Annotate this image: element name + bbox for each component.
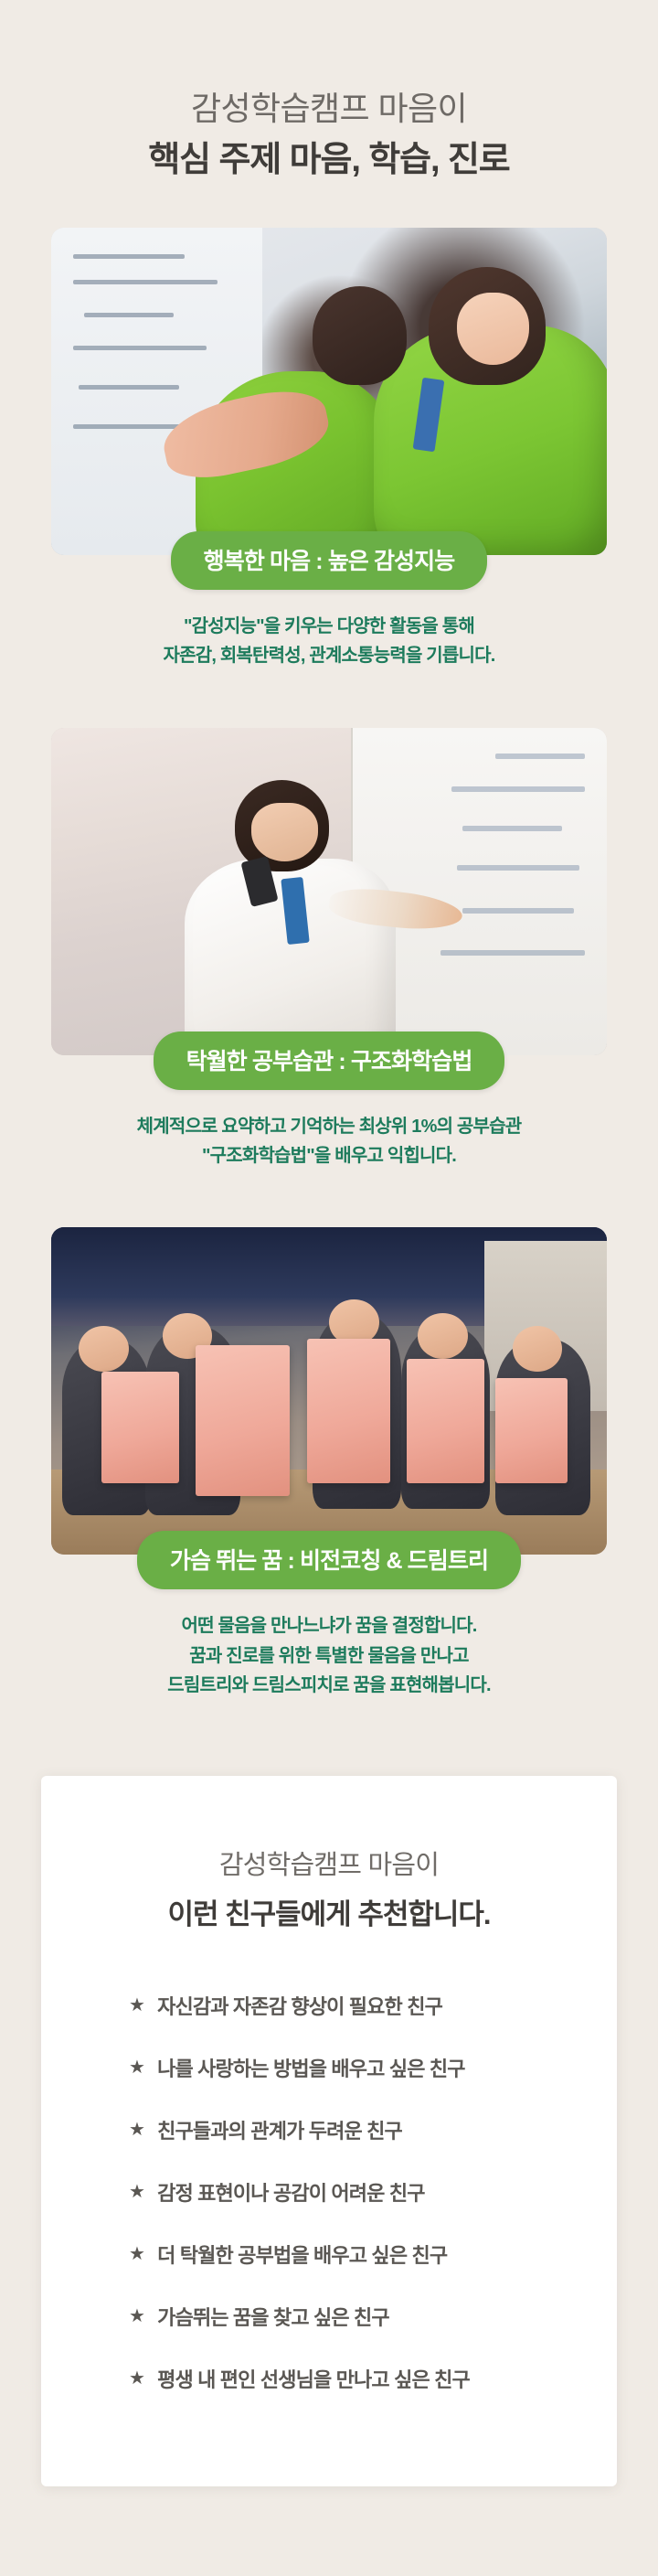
student-face (513, 1326, 563, 1372)
child-face (457, 293, 529, 365)
feature-section-1: 행복한 마음 : 높은 감성지능 "감성지능"을 키우는 다양한 활동을 통해 … (0, 228, 658, 719)
description-line: 드림트리와 드림스피치로 꿈을 표현해봅니다. (167, 1671, 490, 1700)
dream-tree-sheet (196, 1345, 290, 1496)
list-item-label: 나를 사랑하는 방법을 배우고 싶은 친구 (157, 2053, 465, 2082)
feature-badge-3: 가슴 뛰는 꿈 : 비전코칭 & 드림트리 (137, 1531, 521, 1589)
list-item: ★ 감정 표현이나 공감이 어려운 친구 (129, 2161, 617, 2223)
student-face (418, 1313, 468, 1359)
feature-description-3: 어떤 물음을 만나느냐가 꿈을 결정합니다. 꿈과 진로를 위한 특별한 물음을… (167, 1611, 490, 1748)
promo-page: 감성학습캠프 마음이 핵심 주제 마음, 학습, 진로 (0, 0, 658, 2576)
description-line: "감성지능"을 키우는 다양한 활동을 통해 (164, 612, 495, 641)
page-title-sub: 감성학습캠프 마음이 (0, 87, 658, 132)
board-scribble (73, 280, 218, 284)
photo-wrap-2 (51, 728, 607, 1055)
board-note (495, 754, 584, 759)
photo-wrap-1 (51, 228, 607, 555)
feature-photo-2 (51, 728, 607, 1055)
board-note (440, 950, 585, 956)
photo-2-image (51, 728, 607, 1055)
page-title: 핵심 주제 마음, 학습, 진로 (0, 137, 658, 184)
photo-1-image (51, 228, 607, 555)
dream-tree-sheet (495, 1378, 568, 1483)
feature-badge-2: 탁월한 공부습관 : 구조화학습법 (154, 1031, 505, 1090)
list-item: ★ 나를 사랑하는 방법을 배우고 싶은 친구 (129, 2036, 617, 2099)
board-note (457, 865, 579, 871)
star-icon: ★ (129, 2183, 144, 2201)
list-item-label: 감정 표현이나 공감이 어려운 친구 (157, 2177, 425, 2207)
list-item: ★ 친구들과의 관계가 두려운 친구 (129, 2099, 617, 2161)
star-icon: ★ (129, 1996, 144, 2015)
feature-description-1: "감성지능"을 키우는 다양한 활동을 통해 자존감, 회복탄력성, 관계소통능… (164, 612, 495, 719)
list-item-label: 평생 내 편인 선생님을 만나고 싶은 친구 (157, 2364, 470, 2393)
student-face (251, 803, 318, 861)
description-line: 체계적으로 요약하고 기억하는 최상위 1%의 공부습관 (137, 1112, 522, 1141)
list-item-label: 가슴뛰는 꿈을 찾고 싶은 친구 (157, 2302, 389, 2331)
card-title: 이런 친구들에게 추천합니다. (167, 1891, 490, 1932)
photo-3-image (51, 1227, 607, 1555)
list-item: ★ 자신감과 자존감 향상이 필요한 친구 (129, 1974, 617, 2036)
dream-tree-sheet (307, 1339, 390, 1483)
board-scribble (73, 346, 207, 350)
description-line: "구조화학습법"을 배우고 익힙니다. (137, 1141, 522, 1170)
feature-section-2: 탁월한 공부습관 : 구조화학습법 체계적으로 요약하고 기억하는 최상위 1%… (0, 728, 658, 1219)
badge-row-1: 행복한 마음 : 높은 감성지능 (51, 531, 607, 590)
recommendation-list: ★ 자신감과 자존감 향상이 필요한 친구 ★ 나를 사랑하는 방법을 배우고 … (41, 1974, 617, 2410)
board-scribble (73, 254, 185, 259)
star-icon: ★ (129, 2121, 144, 2139)
photo-wrap-3 (51, 1227, 607, 1555)
list-item: ★ 더 탁월한 공부법을 배우고 싶은 친구 (129, 2223, 617, 2285)
child-head (313, 286, 407, 384)
list-item-label: 더 탁월한 공부법을 배우고 싶은 친구 (157, 2239, 447, 2269)
card-subtitle: 감성학습캠프 마음이 (219, 1844, 439, 1882)
badge-row-2: 탁월한 공부습관 : 구조화학습법 (51, 1031, 607, 1090)
feature-photo-3 (51, 1227, 607, 1555)
page-header: 감성학습캠프 마음이 핵심 주제 마음, 학습, 진로 (0, 0, 658, 228)
board-note (462, 826, 562, 831)
dream-tree-sheet (407, 1359, 484, 1483)
badge-row-3: 가슴 뛰는 꿈 : 비전코칭 & 드림트리 (51, 1531, 607, 1589)
feature-photo-1 (51, 228, 607, 555)
feature-description-2: 체계적으로 요약하고 기억하는 최상위 1%의 공부습관 "구조화학습법"을 배… (137, 1112, 522, 1219)
star-icon: ★ (129, 2245, 144, 2263)
dream-tree-sheet (101, 1372, 179, 1483)
list-item: ★ 평생 내 편인 선생님을 만나고 싶은 친구 (129, 2347, 617, 2410)
star-icon: ★ (129, 2307, 144, 2325)
recommendation-card: 감성학습캠프 마음이 이런 친구들에게 추천합니다. ★ 자신감과 자존감 향상… (41, 1776, 617, 2486)
description-line: 어떤 물음을 만나느냐가 꿈을 결정합니다. (167, 1611, 490, 1641)
list-item-label: 자신감과 자존감 향상이 필요한 친구 (157, 1991, 442, 2020)
feature-badge-1: 행복한 마음 : 높은 감성지능 (171, 531, 488, 590)
list-item-label: 친구들과의 관계가 두려운 친구 (157, 2115, 402, 2144)
student-face (79, 1326, 129, 1372)
board-scribble (79, 385, 178, 390)
feature-section-3: 가슴 뛰는 꿈 : 비전코칭 & 드림트리 어떤 물음을 만나느냐가 꿈을 결정… (0, 1227, 658, 1748)
list-item: ★ 가슴뛰는 꿈을 찾고 싶은 친구 (129, 2285, 617, 2347)
board-note (462, 908, 574, 914)
star-icon: ★ (129, 2058, 144, 2077)
description-line: 자존감, 회복탄력성, 관계소통능력을 기릅니다. (164, 641, 495, 670)
star-icon: ★ (129, 2369, 144, 2388)
description-line: 꿈과 진로를 위한 특별한 물음을 만나고 (167, 1641, 490, 1671)
board-note (451, 786, 585, 792)
board-scribble (84, 313, 173, 317)
